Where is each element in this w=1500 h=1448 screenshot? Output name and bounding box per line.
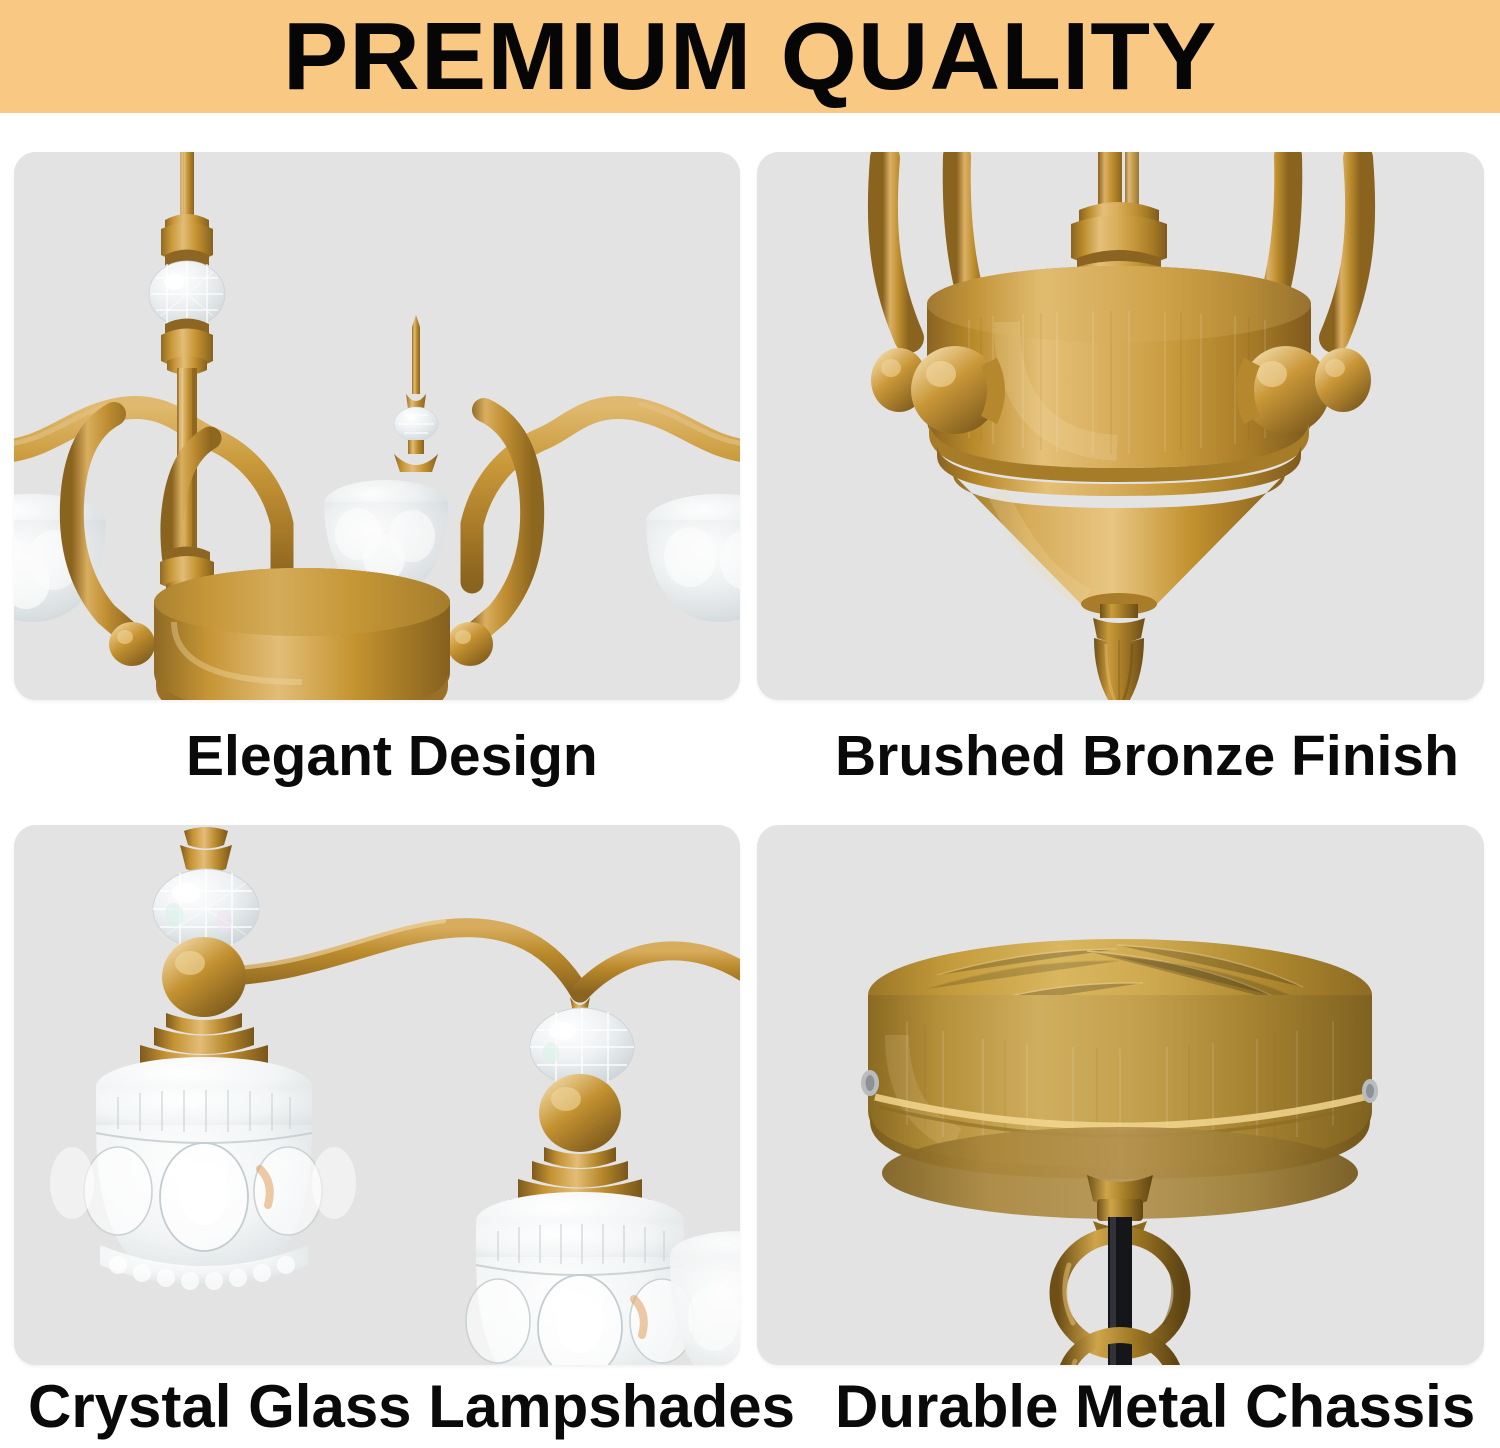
canopy-screw-left xyxy=(861,1070,879,1096)
feature-grid: Elegant Design xyxy=(0,113,1500,1448)
feature-cell-crystal-glass-lampshades: Crystal Glass Lampshades xyxy=(14,825,740,1448)
canopy-screw-right xyxy=(1362,1079,1378,1103)
feature-cell-durable-metal-chassis: Durable Metal Chassis xyxy=(757,825,1484,1448)
chandelier-hub-illustration xyxy=(14,152,740,700)
caption-crystal-glass-lampshades: Crystal Glass Lampshades xyxy=(14,1365,740,1448)
premium-quality-banner: PREMIUM QUALITY xyxy=(0,0,1500,113)
photo-brushed-bronze-finish xyxy=(757,152,1484,700)
caption-brushed-bronze-finish: Brushed Bronze Finish xyxy=(757,700,1484,812)
banner-title: PREMIUM QUALITY xyxy=(283,9,1218,105)
feature-cell-elegant-design: Elegant Design xyxy=(14,152,740,812)
caption-elegant-design: Elegant Design xyxy=(14,700,740,812)
photo-elegant-design xyxy=(14,152,740,700)
crystal-lampshades-illustration xyxy=(14,825,740,1365)
bronze-body-illustration xyxy=(757,152,1484,700)
ceiling-canopy-illustration xyxy=(757,825,1484,1365)
feature-cell-brushed-bronze-finish: Brushed Bronze Finish xyxy=(757,152,1484,812)
photo-crystal-glass-lampshades xyxy=(14,825,740,1365)
caption-durable-metal-chassis: Durable Metal Chassis xyxy=(757,1365,1484,1448)
infographic-page: PREMIUM QUALITY xyxy=(0,0,1500,1448)
photo-durable-metal-chassis xyxy=(757,825,1484,1365)
